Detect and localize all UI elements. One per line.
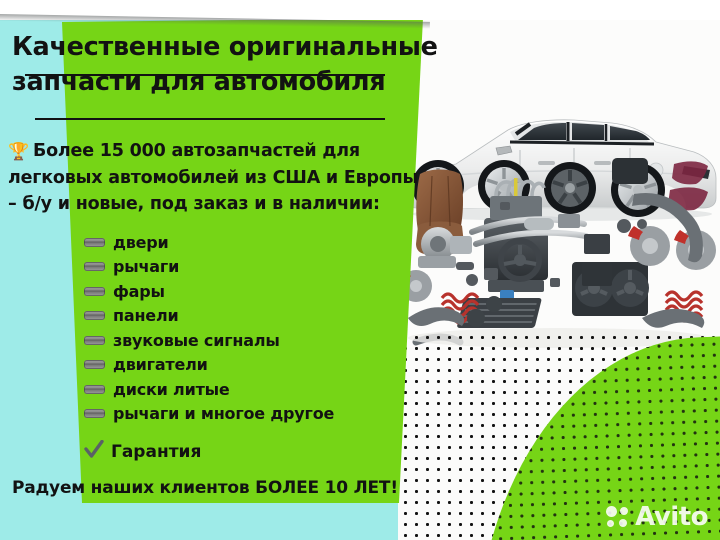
list-item-label: двигатели: [113, 355, 208, 374]
dash-bullet-icon: [84, 238, 105, 247]
guarantee-label: Гарантия: [111, 442, 201, 462]
list-item: рычаги и многое другое: [84, 402, 414, 427]
list-item: фары: [84, 279, 414, 304]
list-item: рычаги: [84, 255, 414, 280]
list-item: диски литые: [84, 377, 414, 402]
avito-wordmark: Avito: [635, 504, 708, 530]
list-item-label: диски литые: [113, 380, 230, 399]
dash-bullet-icon: [84, 311, 105, 320]
dash-bullet-icon: [84, 409, 105, 418]
lead-paragraph: 🏆Более 15 000 автозапчастей для легковых…: [8, 138, 418, 217]
dash-bullet-icon: [84, 360, 105, 369]
list-item-label: панели: [113, 306, 179, 325]
headline-rule-bottom: [35, 118, 385, 120]
avito-watermark: Avito: [606, 504, 708, 530]
car-parts-photo: [398, 18, 720, 348]
headline-rule-top: [25, 74, 385, 76]
headline-line-2: запчасти для автомобиля: [12, 65, 412, 100]
list-item: панели: [84, 304, 414, 329]
lead-line-1-text: Более 15 000 автозапчастей для: [33, 141, 360, 161]
lead-line-1: 🏆Более 15 000 автозапчастей для: [8, 138, 418, 165]
list-item-label: двери: [113, 233, 169, 252]
list-item: звуковые сигналы: [84, 328, 414, 353]
lead-line-3: – б/у и новые, под заказ и в наличии:: [8, 191, 418, 217]
check-icon: [84, 440, 104, 464]
list-item: двери: [84, 230, 414, 255]
dash-bullet-icon: [84, 287, 105, 296]
guarantee-row: Гарантия: [84, 440, 201, 464]
advert-poster: Качественные оригинальные запчасти для а…: [0, 0, 720, 540]
parts-list: двери рычаги фары панели звуковые сигнал…: [84, 230, 414, 426]
trophy-icon: 🏆: [8, 142, 29, 162]
lead-line-2: легковых автомобилей из США и Европы: [8, 165, 418, 191]
footer-tagline: Радуем наших клиентов БОЛЕЕ 10 ЛЕТ!: [12, 478, 422, 498]
avito-logo-icon: [606, 506, 630, 528]
list-item-label: рычаги и многое другое: [113, 404, 334, 423]
page-title: Качественные оригинальные запчасти для а…: [12, 30, 412, 100]
muffler: [524, 218, 554, 230]
poster-content: Качественные оригинальные запчасти для а…: [0, 0, 430, 540]
list-item-label: фары: [113, 282, 165, 301]
dash-bullet-icon: [84, 262, 105, 271]
dash-bullet-icon: [84, 385, 105, 394]
list-item-label: рычаги: [113, 257, 179, 276]
list-item: двигатели: [84, 353, 414, 378]
list-item-label: звуковые сигналы: [113, 331, 280, 350]
headline-line-1: Качественные оригинальные: [12, 30, 412, 65]
dash-bullet-icon: [84, 336, 105, 345]
